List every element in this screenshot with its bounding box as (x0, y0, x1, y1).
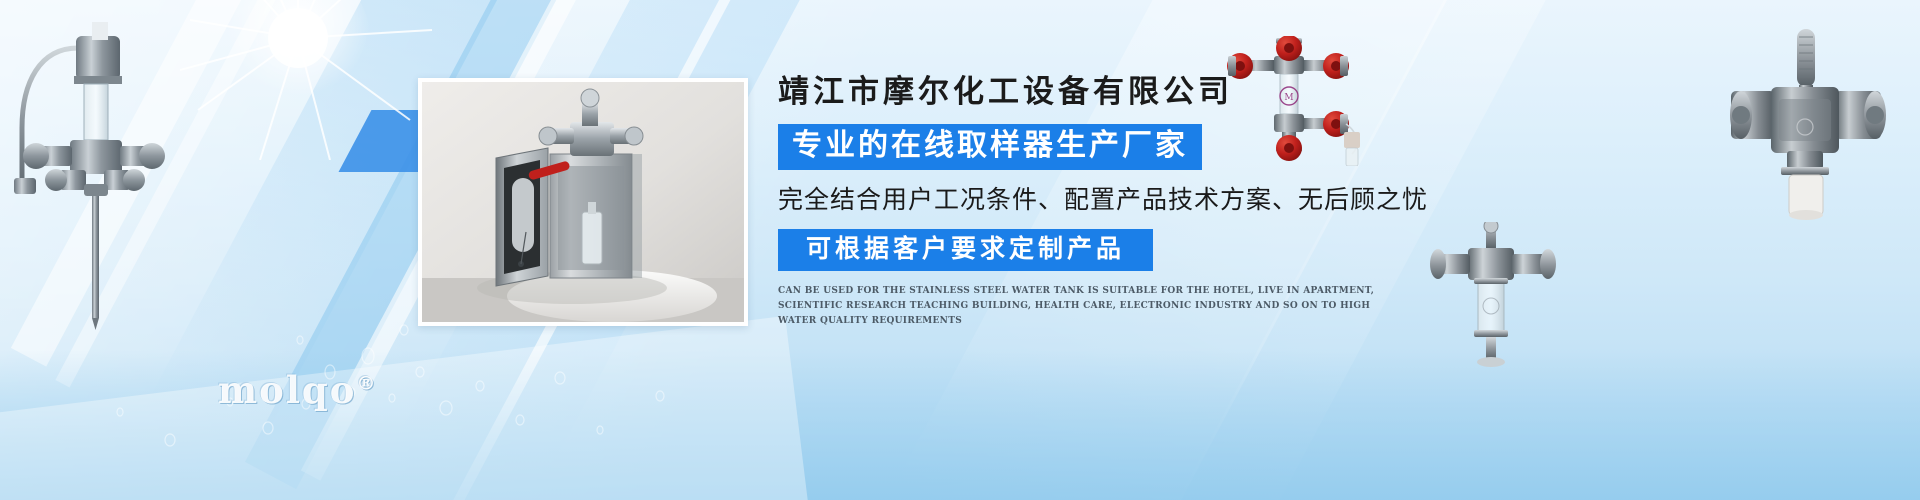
center-product-photo-card (418, 78, 748, 326)
promo-banner: 靖江市摩尔化工设备有限公司 专业的在线取样器生产厂家 完全结合用户工况条件、配置… (0, 0, 1920, 500)
center-product-photo (422, 82, 744, 322)
watermark-text: molqo (218, 368, 356, 412)
right-product-cross-sampler: M (1212, 36, 1372, 166)
right-product-lever-valve (1725, 25, 1905, 225)
english-caption: CAN BE USED FOR THE STAINLESS STEEL WATE… (778, 284, 1378, 329)
svg-text:M: M (1284, 93, 1293, 103)
decor-bottom-diagonal (0, 316, 808, 500)
watermark-logo: molqo® (218, 368, 377, 412)
headline-badge: 专业的在线取样器生产厂家 (778, 124, 1202, 170)
registered-mark-icon: ® (356, 373, 377, 395)
left-product-sampling-valve-assembly (0, 20, 190, 330)
customization-badge: 可根据客户要求定制产品 (778, 229, 1153, 271)
right-product-flanged-valve (1428, 222, 1558, 372)
value-proposition-line: 完全结合用户工况条件、配置产品技术方案、无后顾之忧 (778, 184, 1398, 216)
